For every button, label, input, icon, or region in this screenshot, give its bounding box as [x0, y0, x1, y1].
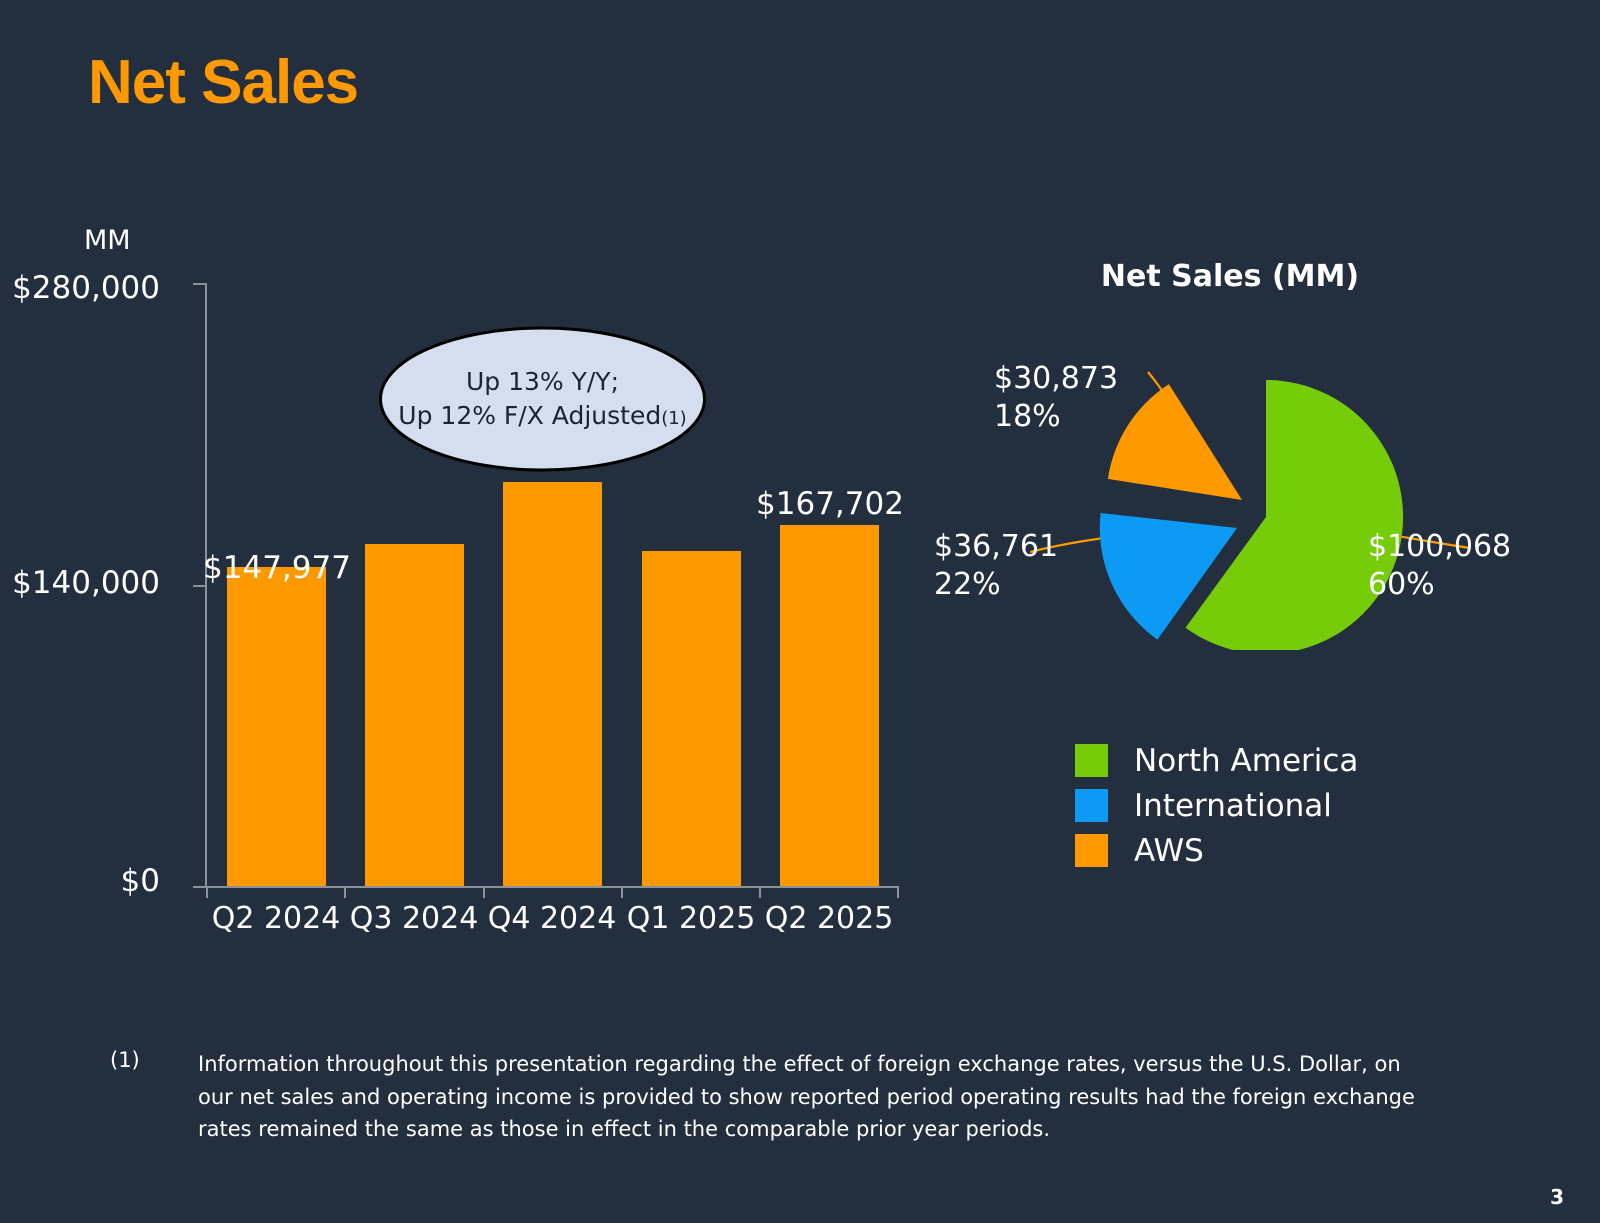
y-axis-tick-mark-top — [193, 283, 205, 285]
x-axis-label-q2-2024: Q2 2024 — [196, 901, 356, 936]
pie-callout-north-america: $100,068 60% — [1368, 528, 1511, 605]
pie-callout-aws-value: $30,873 — [994, 360, 1118, 398]
callout-footnote-ref: (1) — [661, 408, 687, 429]
pie-callout-north-america-percent: 60% — [1368, 566, 1511, 604]
pie-callout-aws-percent: 18% — [994, 398, 1118, 436]
slide-net-sales: Net Sales MM $280,000 $140,000 $0 — [0, 0, 1600, 1223]
legend-item-north-america[interactable]: North America — [1075, 738, 1475, 783]
bar-q3-2024[interactable] — [365, 544, 464, 886]
x-axis-label-q2-2025: Q2 2025 — [749, 901, 909, 936]
page-number: 3 — [1550, 1185, 1564, 1209]
x-axis-label-q3-2024: Q3 2024 — [334, 901, 494, 936]
bar-value-label-q2-2025: $167,702 — [750, 486, 910, 522]
x-axis-tick-mark-4 — [759, 886, 761, 898]
x-axis-labels: Q2 2024 Q3 2024 Q4 2024 Q1 2025 Q2 2025 — [207, 901, 898, 951]
y-axis-tick-label-0: $0 — [0, 863, 160, 899]
x-axis-tick-mark-0 — [206, 886, 208, 898]
callout-line-1: Up 13% Y/Y; — [466, 365, 619, 399]
legend-item-aws[interactable]: AWS — [1075, 828, 1475, 873]
pie-callout-aws: $30,873 18% — [994, 360, 1118, 437]
callout-line-2: Up 12% F/X Adjusted — [398, 401, 661, 430]
x-axis-tick-mark-2 — [483, 886, 485, 898]
y-axis-unit-label: MM — [84, 225, 131, 256]
legend-label-international: International — [1134, 788, 1332, 824]
x-axis-tick-mark-1 — [344, 886, 346, 898]
pie-chart-legend: North America International AWS — [1075, 738, 1475, 873]
footnote: (1) Information throughout this presenta… — [110, 1048, 1450, 1146]
pie-slice-aws[interactable] — [1108, 384, 1242, 500]
pie-slice-north-america[interactable] — [1186, 380, 1404, 650]
callout-text: Up 13% Y/Y; Up 12% F/X Adjusted(1) — [378, 325, 707, 473]
x-axis-tick-mark-5 — [897, 886, 899, 898]
callout-line-2-wrap: Up 12% F/X Adjusted(1) — [398, 399, 686, 433]
page-title: Net Sales — [88, 52, 358, 114]
x-axis-tick-mark-3 — [621, 886, 623, 898]
x-axis-label-q1-2025: Q1 2025 — [611, 901, 771, 936]
pie-chart-title: Net Sales (MM) — [900, 259, 1560, 294]
legend-label-aws: AWS — [1134, 833, 1204, 869]
x-axis-label-q4-2024: Q4 2024 — [472, 901, 632, 936]
legend-swatch-north-america — [1075, 744, 1108, 777]
pie-callout-international-value: $36,761 — [934, 528, 1058, 566]
footnote-marker: (1) — [110, 1048, 198, 1072]
bar-q2-2024[interactable] — [227, 567, 326, 886]
y-axis-tick-label-140000: $140,000 — [0, 565, 160, 601]
bar-value-label-q2-2024: $147,977 — [197, 550, 357, 586]
bar-q4-2024[interactable] — [503, 482, 602, 886]
legend-swatch-international — [1075, 789, 1108, 822]
legend-label-north-america: North America — [1134, 743, 1358, 779]
callout-bubble: Up 13% Y/Y; Up 12% F/X Adjusted(1) — [378, 325, 707, 473]
footnote-text: Information throughout this presentation… — [198, 1048, 1428, 1146]
bar-q1-2025[interactable] — [642, 551, 741, 886]
y-axis-tick-mark-bottom — [193, 886, 205, 888]
legend-swatch-aws — [1075, 834, 1108, 867]
x-axis-line — [205, 886, 898, 888]
bar-q2-2025[interactable] — [780, 525, 879, 886]
pie-callout-international-percent: 22% — [934, 566, 1058, 604]
pie-callout-north-america-value: $100,068 — [1368, 528, 1511, 566]
y-axis-tick-label-280000: $280,000 — [0, 270, 160, 306]
legend-item-international[interactable]: International — [1075, 783, 1475, 828]
pie-callout-international: $36,761 22% — [934, 528, 1058, 605]
